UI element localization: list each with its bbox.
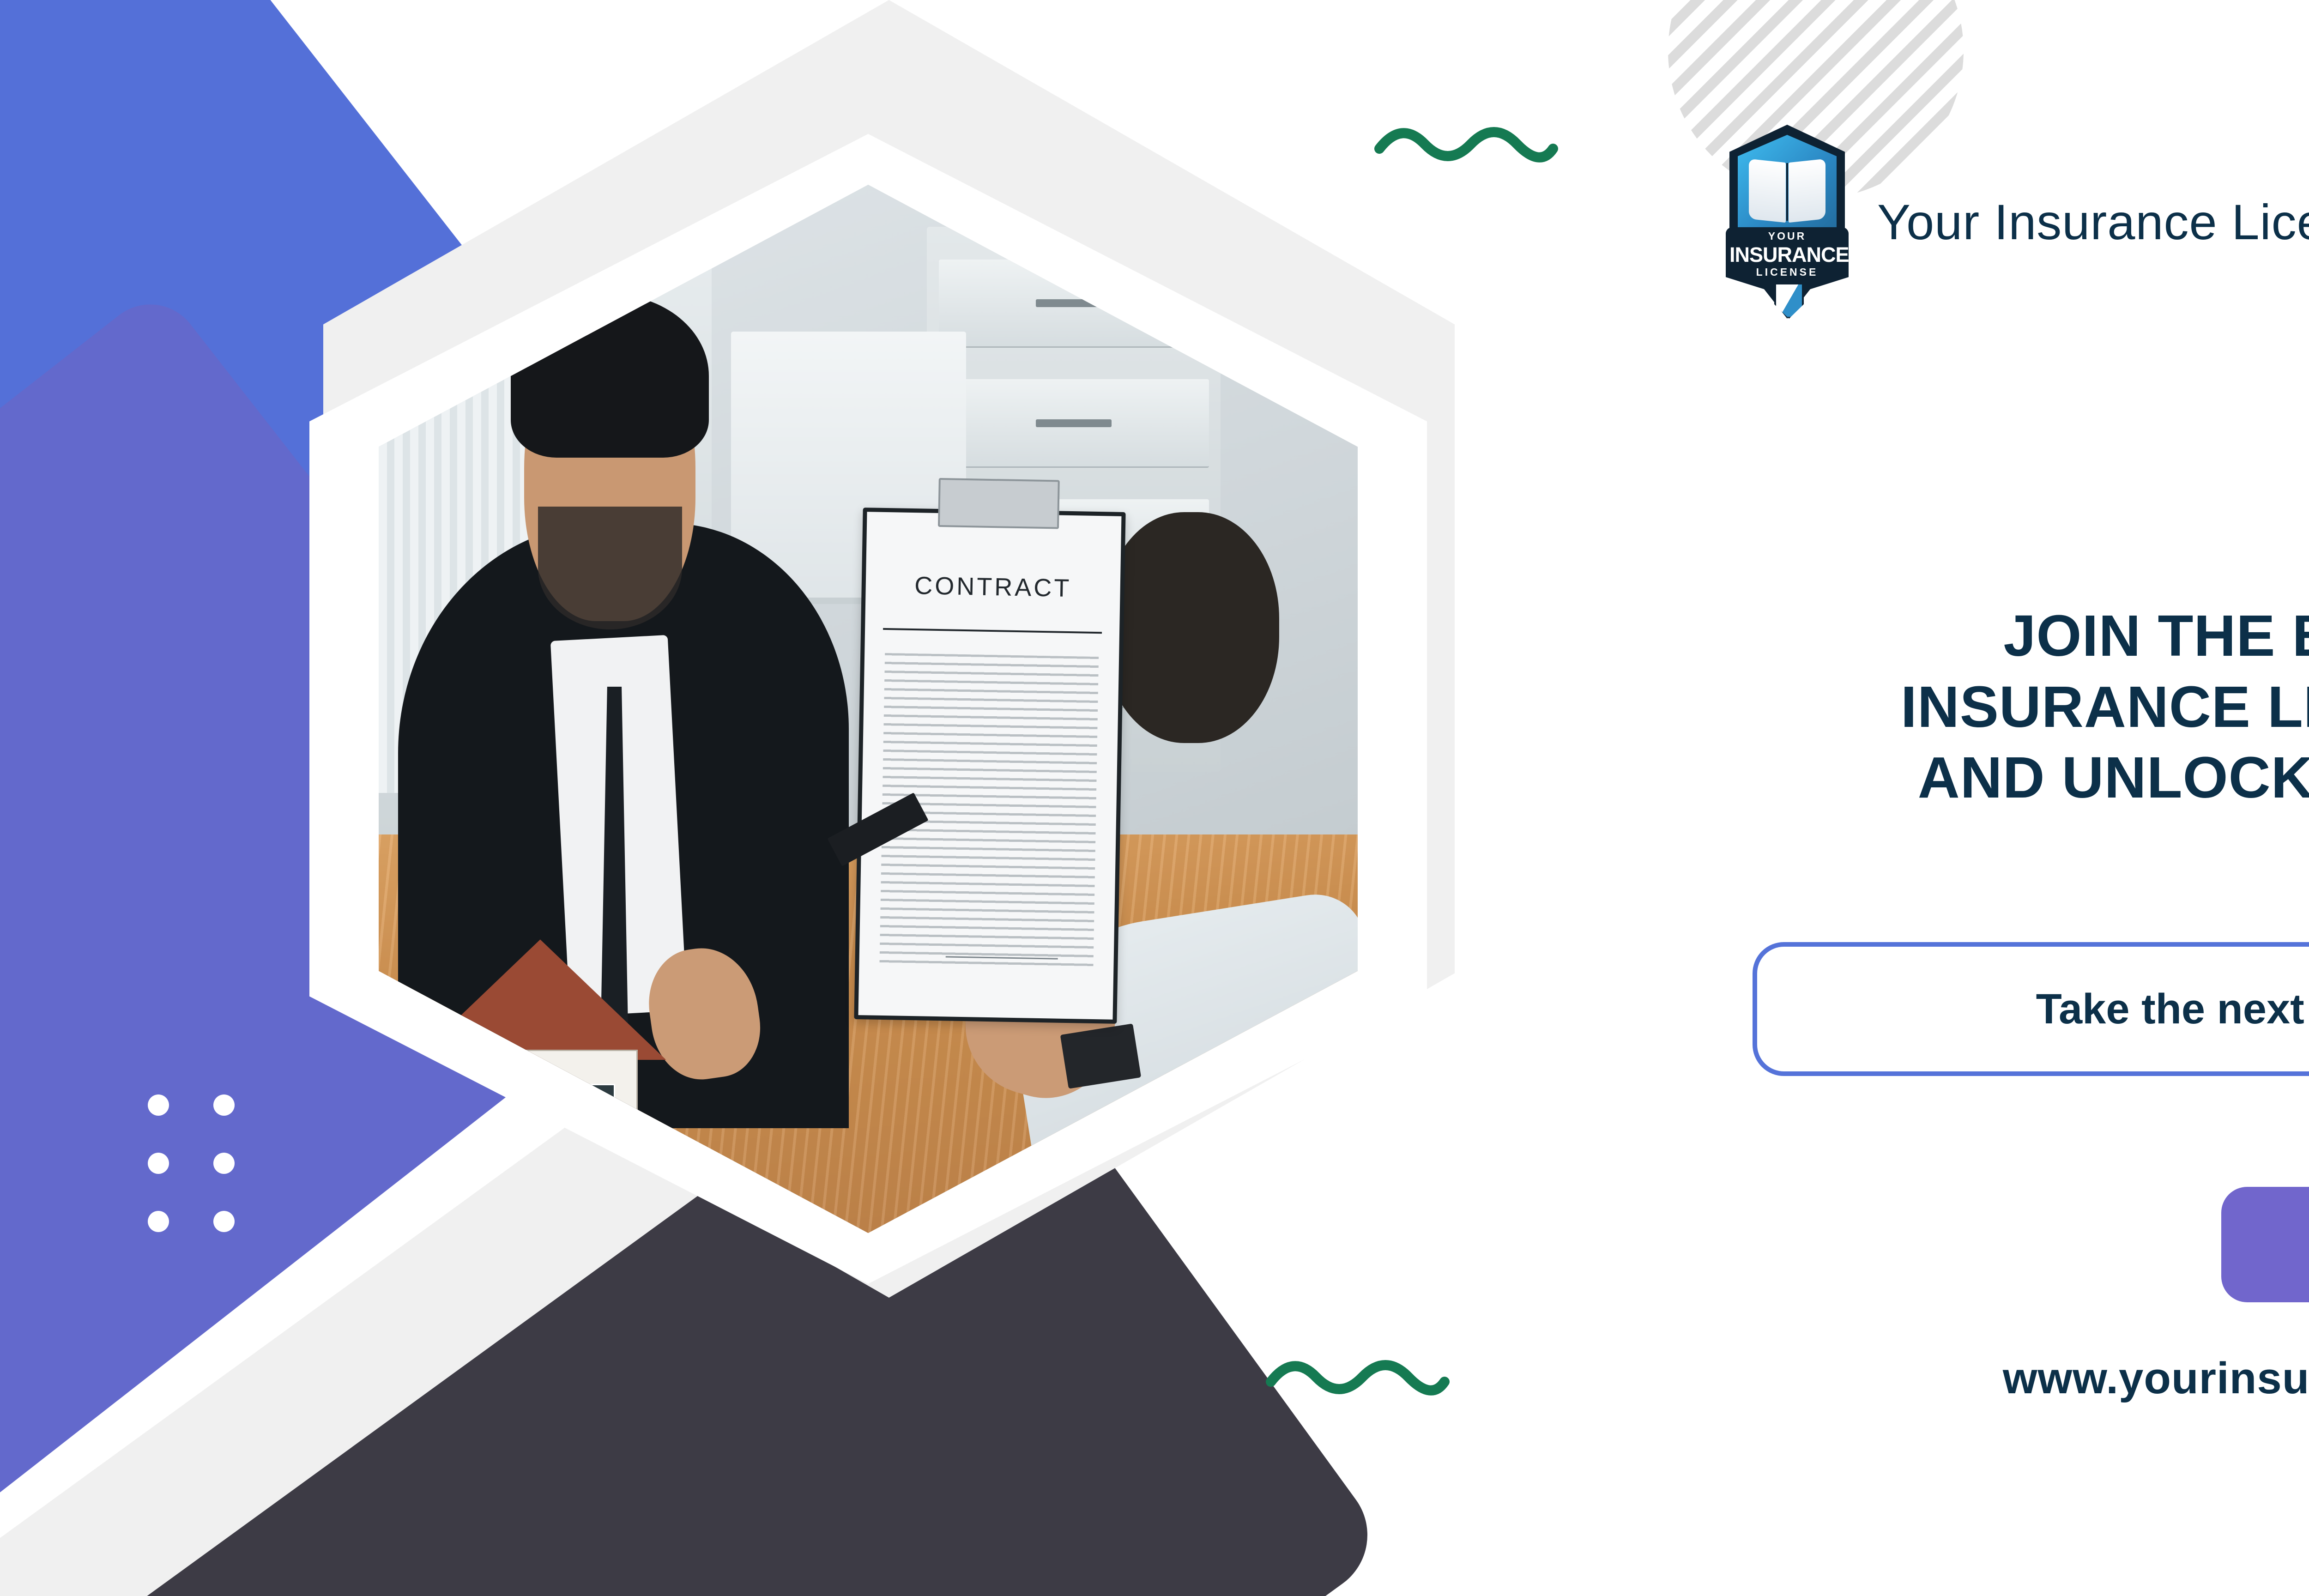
logo-top-word: YOUR <box>1729 230 1845 242</box>
dot <box>148 1153 169 1174</box>
logo-bottom-word: LICENSE <box>1729 266 1845 278</box>
dot <box>148 1094 169 1116</box>
enroll-now-button[interactable]: Enroll Now <box>2221 1187 2309 1302</box>
dot <box>213 1153 235 1174</box>
hexagon-photo-frame: CONTRACT <box>282 0 1482 1316</box>
photo-contract-clipboard: CONTRACT <box>854 508 1125 1023</box>
subtitle-box: Take the next step toward a successful c… <box>1753 942 2309 1076</box>
headline-line-1: JOIN THE BEST ONLINE <box>1561 600 2309 671</box>
wave-line-bottom-icon <box>1265 1348 1450 1404</box>
content-column: YOUR INSURANCE LICENSE Your Insurance Li… <box>1561 0 2309 1596</box>
subtitle-text: Take the next step toward a successful c… <box>2036 985 2309 1034</box>
brand-lockup: YOUR INSURANCE LICENSE Your Insurance Li… <box>1729 125 2309 319</box>
website-url[interactable]: www.yourinsurancelicense.com <box>1561 1353 2309 1404</box>
dot <box>148 1211 169 1232</box>
brand-name: Your Insurance License <box>1877 193 2309 251</box>
headline-line-2: INSURANCE LICENSE COURSE <box>1561 671 2309 743</box>
headline-line-3: AND UNLOCK YOUR FUTURE! <box>1561 742 2309 813</box>
shield-book-logo-icon: YOUR INSURANCE LICENSE <box>1729 125 1845 319</box>
dot <box>213 1211 235 1232</box>
logo-main-word: INSURANCE <box>1729 243 1845 267</box>
dot-grid-decoration <box>148 1094 235 1232</box>
headline: JOIN THE BEST ONLINE INSURANCE LICENSE C… <box>1561 600 2309 813</box>
photo-contract-title: CONTRACT <box>883 572 1103 601</box>
promo-banner: CONTRACT <box>0 0 2309 1596</box>
dot <box>213 1094 235 1116</box>
logo-mini-shield-icon <box>1774 283 1804 319</box>
